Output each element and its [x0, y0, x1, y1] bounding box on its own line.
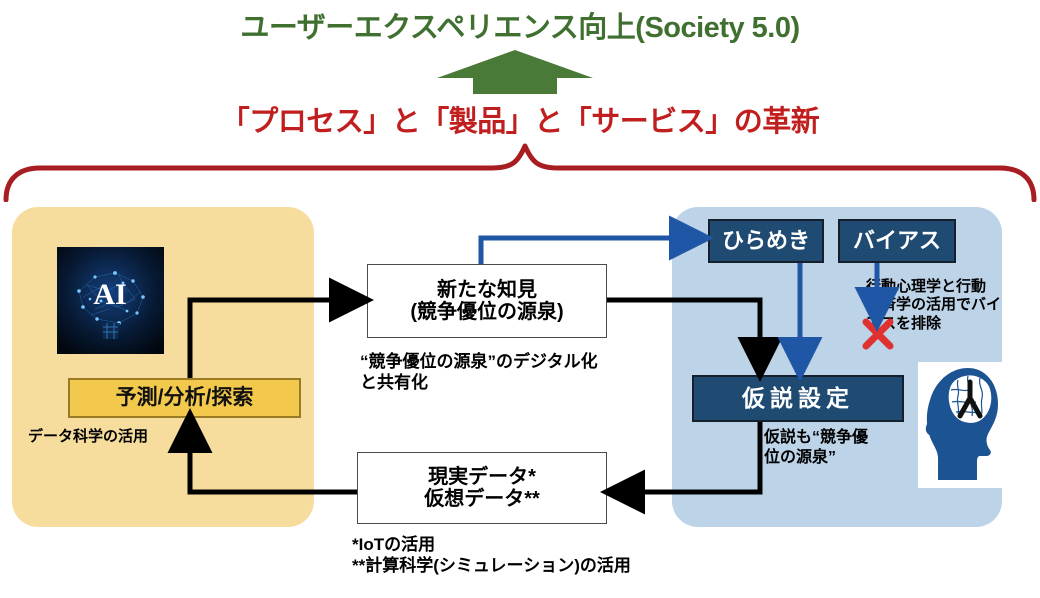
new-knowledge-line2: (競争優位の源泉) — [410, 301, 563, 323]
hypothesis-setting-box[interactable]: 仮説設定 — [692, 375, 904, 422]
digitalization-caption: “競争優位の源泉”のデジタル化 と共有化 — [360, 352, 660, 393]
diagram-canvas: ユーザーエクスペリエンス向上(Society 5.0) 「プロセス」と「製品」と… — [0, 0, 1040, 598]
virtual-data-line: 仮想データ** — [424, 488, 540, 510]
new-knowledge-line1: 新たな知見 — [437, 279, 537, 301]
insight-box[interactable]: ひらめき — [708, 219, 824, 263]
bias-box[interactable]: バイアス — [838, 219, 956, 263]
curly-brace-icon — [0, 140, 1040, 202]
page-subtitle-innovation: 「プロセス」と「製品」と「サービス」の革新 — [0, 98, 1040, 140]
arrow-knowledge-to-insight — [481, 238, 694, 264]
svg-text:AI: AI — [93, 278, 126, 311]
human-head-brain-image — [918, 362, 1006, 488]
iot-simulation-caption: *IoTの活用 **計算科学(シミュレーション)の活用 — [352, 535, 772, 576]
ai-brain-lightbulb-image: AI — [57, 247, 164, 354]
data-science-caption: データ科学の活用 — [28, 428, 148, 446]
prediction-analysis-exploration-box[interactable]: 予測/分析/探索 — [68, 378, 301, 418]
hypothesis-source-caption: 仮説も“競争優 位の源泉” — [764, 428, 874, 467]
real-data-line: 現実データ* — [428, 466, 536, 488]
up-arrow-icon — [435, 48, 595, 96]
red-x-icon — [861, 317, 895, 351]
new-knowledge-box[interactable]: 新たな知見 (競争優位の源泉) — [367, 264, 607, 338]
real-virtual-data-box[interactable]: 現実データ* 仮想データ** — [357, 452, 607, 524]
page-title-society: ユーザーエクスペリエンス向上(Society 5.0) — [0, 4, 1040, 46]
